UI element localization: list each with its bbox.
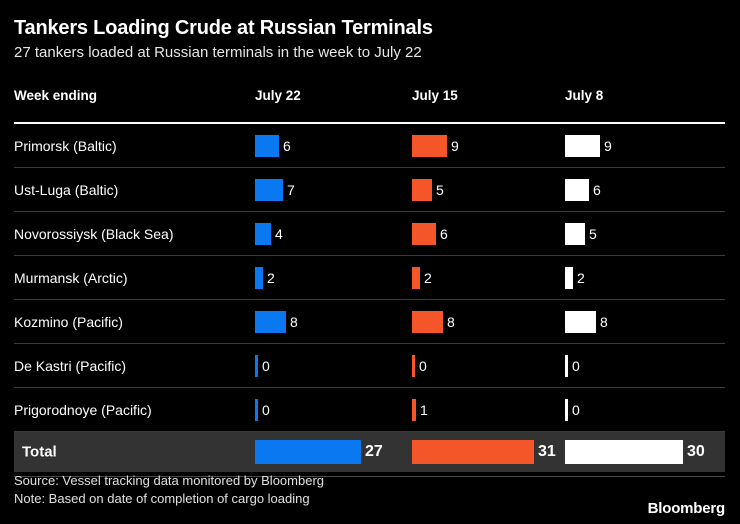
source-note: Source: Vessel tracking data monitored b… — [14, 472, 725, 490]
row-label-total: Total — [22, 444, 57, 461]
table-row: Ust-Luga (Baltic)756 — [14, 168, 725, 212]
chart-header: Tankers Loading Crude at Russian Termina… — [0, 0, 740, 63]
table-header-row: Week ending July 22 July 15 July 8 — [14, 88, 725, 122]
method-note: Note: Based on date of completion of car… — [14, 490, 725, 508]
bar-cell-july-15: 8 — [412, 311, 455, 333]
bar-value-label: 6 — [440, 223, 448, 245]
bloomberg-logo: Bloomberg — [648, 500, 725, 517]
bar-value-label: 8 — [600, 311, 608, 333]
bar-value-label: 1 — [420, 399, 428, 421]
bar — [565, 440, 683, 464]
bar — [255, 311, 286, 333]
bar-cell-july-22: 8 — [255, 311, 298, 333]
page-subtitle: 27 tankers loaded at Russian terminals i… — [14, 43, 726, 63]
bar-cell-july-8: 5 — [565, 223, 597, 245]
bar-value-label: 8 — [290, 311, 298, 333]
bar-cell-july-15: 5 — [412, 179, 444, 201]
table-row: Primorsk (Baltic)699 — [14, 124, 725, 168]
bar — [565, 399, 568, 421]
column-header-week-ending: Week ending — [14, 88, 97, 103]
bar-value-label: 27 — [365, 440, 383, 464]
bar-cell-july-8: 0 — [565, 355, 580, 377]
bar-value-label: 6 — [593, 179, 601, 201]
bar-value-label: 2 — [424, 267, 432, 289]
bar — [255, 223, 271, 245]
bar-value-label: 0 — [262, 399, 270, 421]
bar-value-label: 6 — [283, 135, 291, 157]
bar — [412, 355, 415, 377]
bar-cell-july-22: 2 — [255, 267, 275, 289]
bar-value-label: 31 — [538, 440, 556, 464]
row-label-terminal: Novorossiysk (Black Sea) — [14, 226, 174, 242]
bar — [412, 267, 420, 289]
bar-cell-july-15: 31 — [412, 441, 556, 463]
table-row: Murmansk (Arctic)222 — [14, 256, 725, 300]
bar-cell-july-8: 2 — [565, 267, 585, 289]
row-label-terminal: Kozmino (Pacific) — [14, 314, 123, 330]
bar-cell-july-15: 1 — [412, 399, 428, 421]
table-body: Primorsk (Baltic)699Ust-Luga (Baltic)756… — [14, 124, 725, 472]
bar-value-label: 5 — [589, 223, 597, 245]
bar — [412, 135, 447, 157]
bar-cell-july-15: 2 — [412, 267, 432, 289]
column-header-july-8: July 8 — [565, 88, 603, 103]
bar — [412, 440, 534, 464]
chart-footer: Source: Vessel tracking data monitored b… — [14, 472, 725, 508]
bar — [565, 135, 600, 157]
bar-value-label: 5 — [436, 179, 444, 201]
bar-cell-july-8: 30 — [565, 441, 705, 463]
bar — [565, 267, 573, 289]
bar-value-label: 0 — [262, 355, 270, 377]
bar-value-label: 9 — [604, 135, 612, 157]
bar-cell-july-22: 4 — [255, 223, 283, 245]
bar-cell-july-8: 8 — [565, 311, 608, 333]
bar-cell-july-8: 9 — [565, 135, 612, 157]
bar-value-label: 30 — [687, 440, 705, 464]
table-row: De Kastri (Pacific)000 — [14, 344, 725, 388]
bar — [255, 135, 279, 157]
row-label-terminal: Murmansk (Arctic) — [14, 270, 128, 286]
bar-value-label: 9 — [451, 135, 459, 157]
bar — [565, 355, 568, 377]
bar — [412, 311, 443, 333]
bar — [412, 399, 416, 421]
bar-cell-july-22: 0 — [255, 355, 270, 377]
tanker-loadings-table: Week ending July 22 July 15 July 8 Primo… — [14, 88, 725, 477]
row-label-terminal: De Kastri (Pacific) — [14, 358, 126, 374]
bar-value-label: 0 — [572, 399, 580, 421]
page-title: Tankers Loading Crude at Russian Termina… — [14, 16, 726, 40]
column-header-july-22: July 22 — [255, 88, 301, 103]
bar-value-label: 7 — [287, 179, 295, 201]
table-row: Novorossiysk (Black Sea)465 — [14, 212, 725, 256]
bar — [255, 399, 258, 421]
bar-cell-july-15: 9 — [412, 135, 459, 157]
bar — [255, 179, 283, 201]
bar-cell-july-22: 0 — [255, 399, 270, 421]
bar — [565, 311, 596, 333]
table-row: Prigorodnoye (Pacific)010 — [14, 388, 725, 432]
bar — [412, 179, 432, 201]
bar-value-label: 0 — [419, 355, 427, 377]
bar-value-label: 0 — [572, 355, 580, 377]
bar — [255, 355, 258, 377]
bar-value-label: 4 — [275, 223, 283, 245]
table-row-total: Total273130 — [14, 432, 725, 472]
bar-cell-july-22: 6 — [255, 135, 291, 157]
bar-cell-july-15: 6 — [412, 223, 448, 245]
bar — [255, 440, 361, 464]
bar — [412, 223, 436, 245]
bar-value-label: 2 — [267, 267, 275, 289]
row-label-terminal: Primorsk (Baltic) — [14, 138, 117, 154]
bar-cell-july-8: 6 — [565, 179, 601, 201]
bar-cell-july-8: 0 — [565, 399, 580, 421]
bar — [565, 179, 589, 201]
bar-value-label: 8 — [447, 311, 455, 333]
row-label-terminal: Ust-Luga (Baltic) — [14, 182, 118, 198]
bar-cell-july-22: 7 — [255, 179, 295, 201]
bar-cell-july-22: 27 — [255, 441, 383, 463]
row-label-terminal: Prigorodnoye (Pacific) — [14, 402, 152, 418]
table-row: Kozmino (Pacific)888 — [14, 300, 725, 344]
bar — [255, 267, 263, 289]
bar-cell-july-15: 0 — [412, 355, 427, 377]
column-header-july-15: July 15 — [412, 88, 458, 103]
bar-value-label: 2 — [577, 267, 585, 289]
bar — [565, 223, 585, 245]
